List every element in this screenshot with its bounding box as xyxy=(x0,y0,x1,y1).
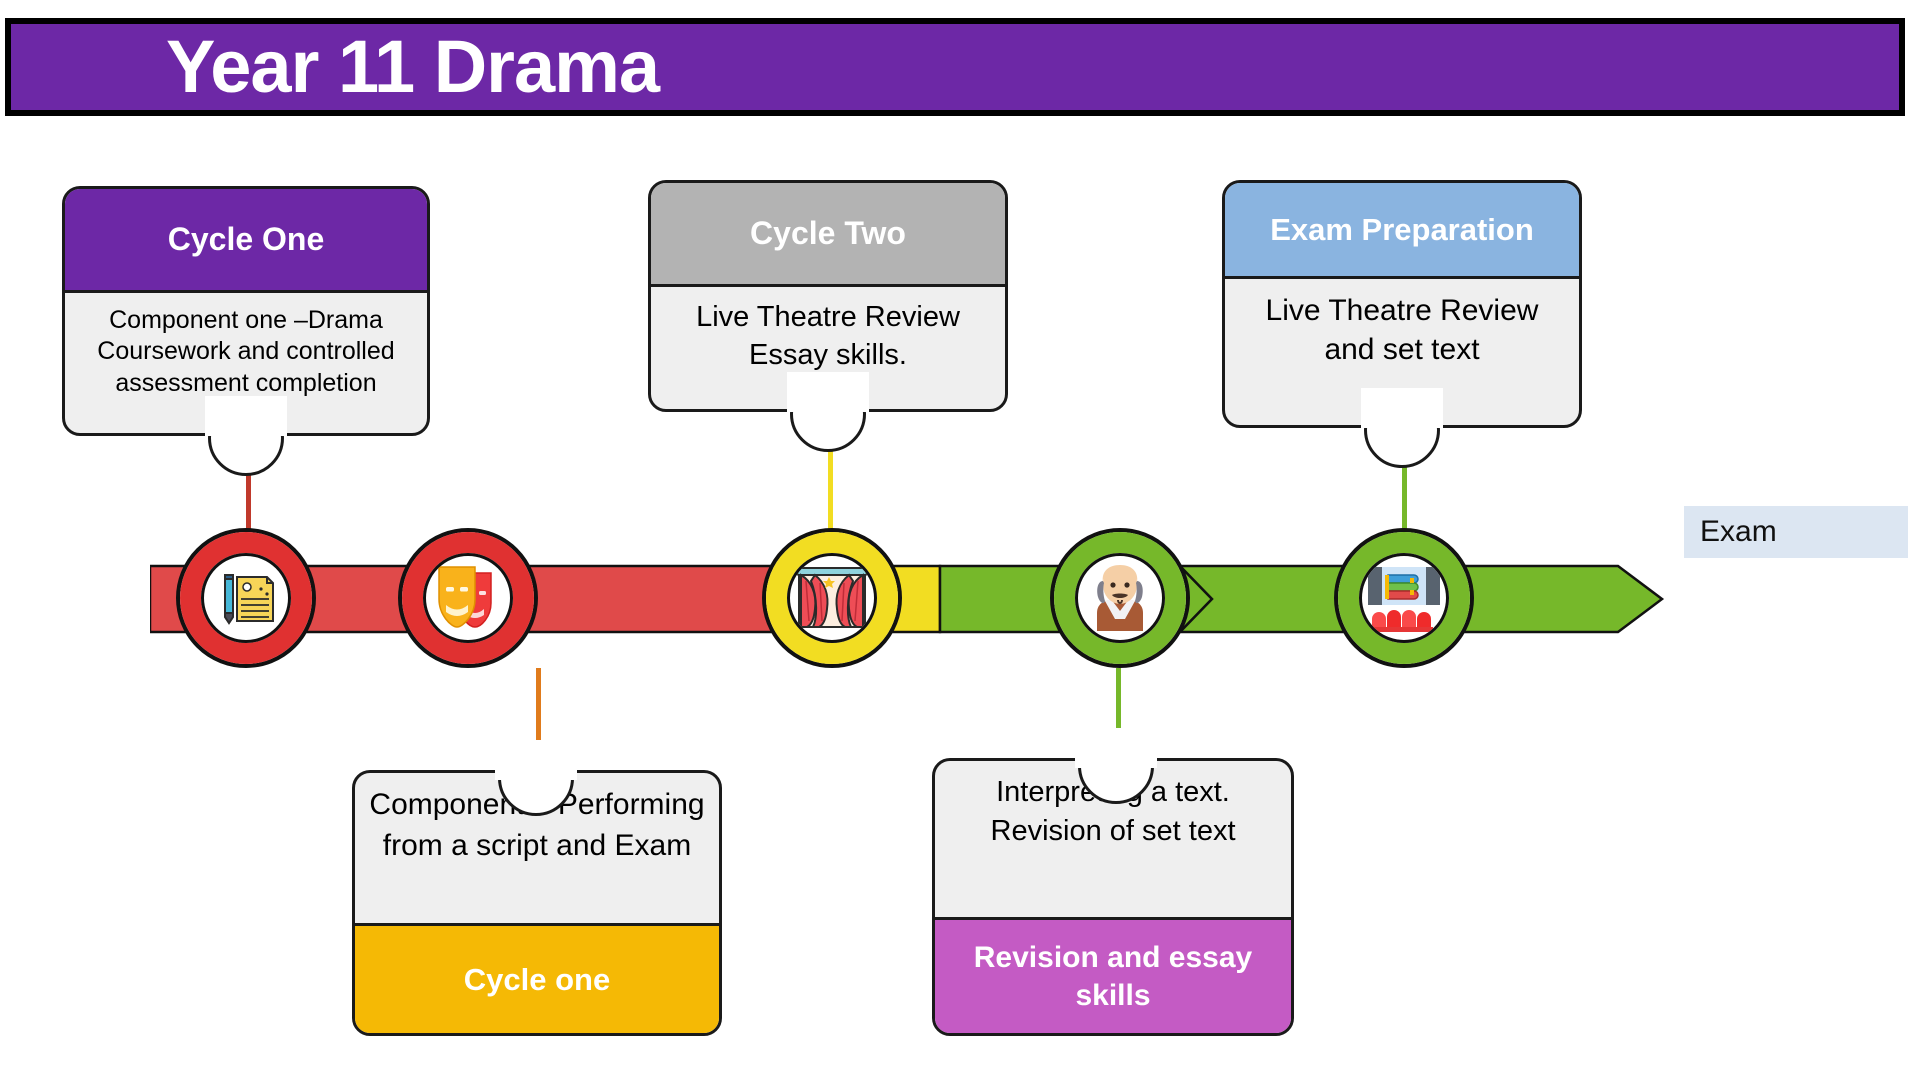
callout-cycle-one-header: Cycle One xyxy=(65,189,427,293)
memo-pencil-icon xyxy=(211,563,281,633)
callout-interpreting-text-footer: Revision and essay skills xyxy=(935,917,1291,1033)
page-title: Year 11 Drama xyxy=(166,30,659,104)
callout-interpreting-text-notch-mask xyxy=(1075,728,1157,768)
node-performing-inner xyxy=(423,553,513,643)
exam-label-text: Exam xyxy=(1700,515,1777,549)
callout-cycle-one-body-text: Component one –Drama Coursework and cont… xyxy=(79,305,413,399)
callout-component-two-footer-label: Cycle one xyxy=(464,962,610,998)
theatre-masks-icon xyxy=(429,559,507,637)
node-coursework-inner xyxy=(201,553,291,643)
callout-interpreting-text-footer-label: Revision and essay skills xyxy=(935,939,1291,1014)
node-live-theatre-inner xyxy=(787,553,877,643)
page-title-banner: Year 11 Drama xyxy=(5,18,1905,116)
callout-cycle-two-header-label: Cycle Two xyxy=(750,215,906,252)
callout-component-two-notch-mask xyxy=(495,740,577,780)
callout-exam-preparation-body-text: Live Theatre Review and set text xyxy=(1239,291,1565,369)
callout-cycle-two-header: Cycle Two xyxy=(651,183,1005,287)
node-exam[interactable] xyxy=(1334,528,1474,668)
callout-exam-preparation-header-label: Exam Preparation xyxy=(1270,212,1534,248)
callout-exam-preparation-header: Exam Preparation xyxy=(1225,183,1579,279)
callout-cycle-two-notch-mask xyxy=(787,372,869,412)
node-set-text-inner xyxy=(1075,553,1165,643)
callout-cycle-one-header-label: Cycle One xyxy=(168,221,325,258)
stage-curtain-icon xyxy=(791,559,873,637)
node-coursework[interactable] xyxy=(176,528,316,668)
exam-label: Exam xyxy=(1684,506,1908,558)
callout-component-two-footer: Cycle one xyxy=(355,923,719,1033)
callout-cycle-one-notch-mask xyxy=(205,396,287,436)
callout-cycle-two-body-text: Live Theatre Review Essay skills. xyxy=(665,299,991,374)
node-set-text[interactable] xyxy=(1050,528,1190,668)
shakespeare-icon xyxy=(1081,559,1159,637)
node-live-theatre[interactable] xyxy=(762,528,902,668)
node-exam-inner xyxy=(1359,553,1449,643)
callout-exam-preparation-notch-mask xyxy=(1361,388,1443,428)
node-performing[interactable] xyxy=(398,528,538,668)
cinema-seats-icon xyxy=(1364,559,1444,637)
